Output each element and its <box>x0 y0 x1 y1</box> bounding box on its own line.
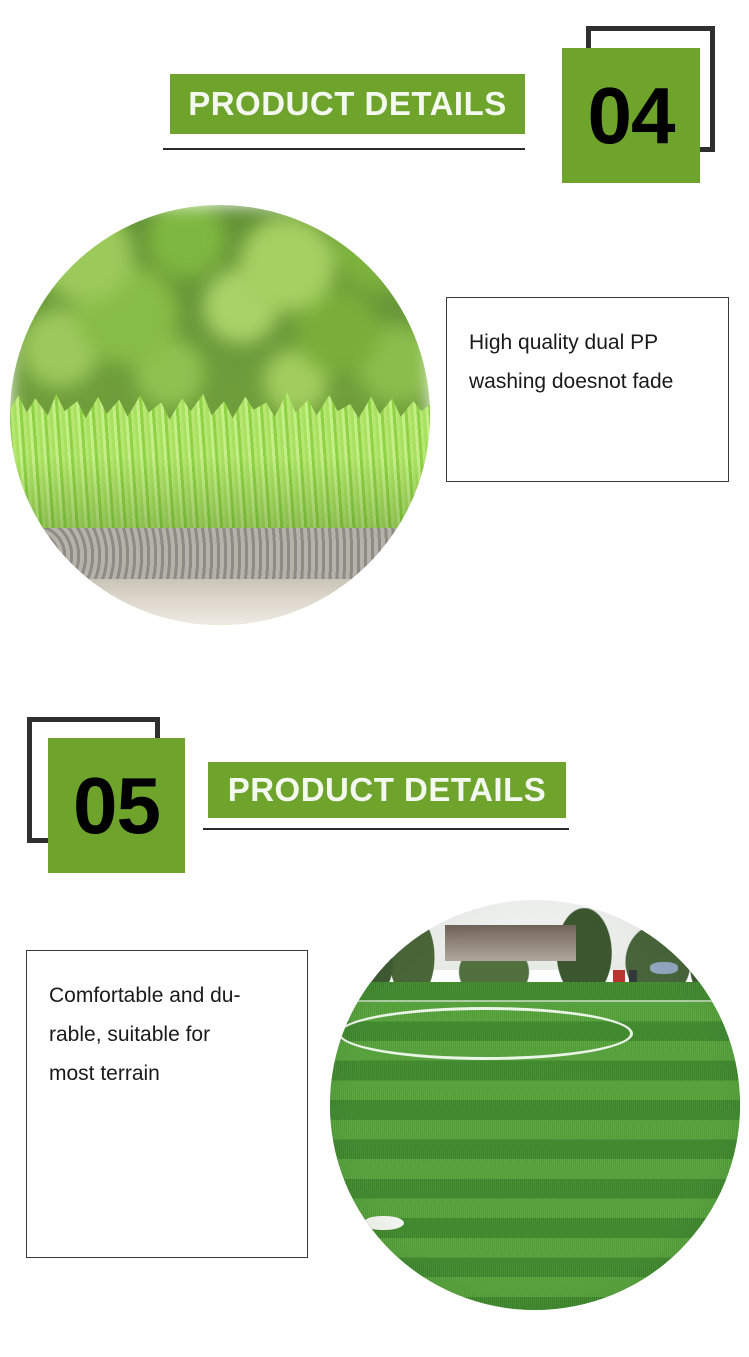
section-05-caption-box: Comfortable and du- rable, suitable for … <box>26 950 308 1258</box>
soccer-field-photo <box>330 900 740 1310</box>
section-05-badge: 05 <box>48 738 185 873</box>
section-05-title: PRODUCT DETAILS <box>228 771 547 809</box>
turf-cross-section-photo <box>10 205 430 625</box>
section-04-caption-box: High quality dual PP washing doesnot fad… <box>446 297 729 482</box>
pitch-vignette <box>330 900 740 1310</box>
section-05-title-bar: PRODUCT DETAILS <box>208 762 566 818</box>
turf-backing-layer <box>10 528 430 583</box>
section-04-caption-text: High quality dual PP washing doesnot fad… <box>469 324 706 402</box>
product-details-page: PRODUCT DETAILS 04 High quality dual PP … <box>0 0 749 1357</box>
section-05-number: 05 <box>73 766 160 846</box>
section-04-title-underline <box>163 148 525 150</box>
turf-blade-shadow <box>10 457 430 533</box>
section-04-badge: 04 <box>562 48 700 183</box>
section-04-title-bar: PRODUCT DETAILS <box>170 74 525 134</box>
section-05-title-underline <box>203 828 569 830</box>
turf-base-layer <box>10 579 430 625</box>
section-05-caption-text: Comfortable and du- rable, suitable for … <box>49 977 285 1094</box>
section-04-number: 04 <box>588 76 675 156</box>
section-04-title: PRODUCT DETAILS <box>188 85 507 123</box>
